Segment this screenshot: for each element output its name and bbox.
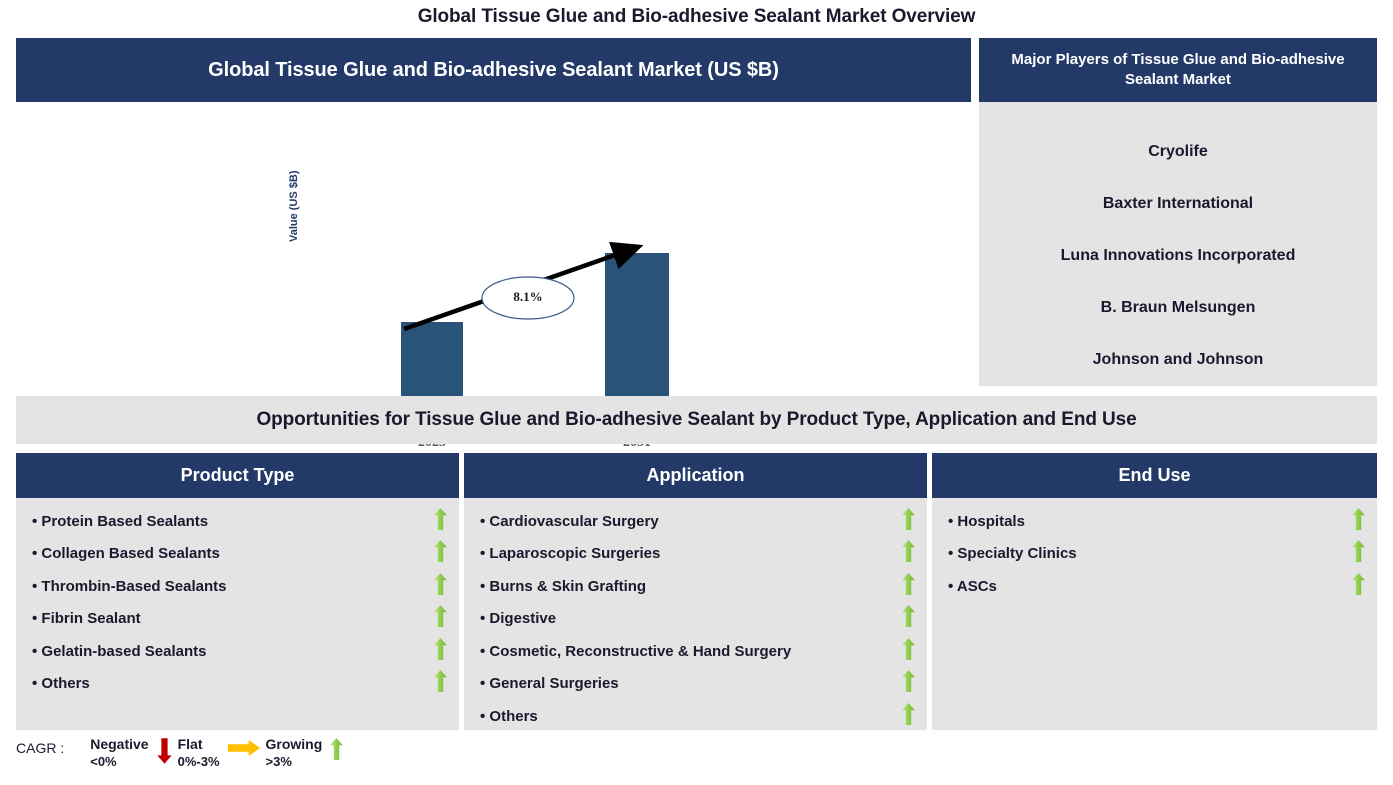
opportunity-label: • Hospitals: [948, 513, 1025, 530]
column-header: Product Type: [16, 453, 459, 498]
major-players-panel: Major Players of Tissue Glue and Bio-adh…: [979, 38, 1377, 386]
opportunity-row: • Laparoscopic Surgeries: [464, 538, 927, 571]
trend-arrow: [434, 638, 447, 665]
arrow-up-green-icon: [1352, 508, 1365, 530]
major-players-header: Major Players of Tissue Glue and Bio-adh…: [979, 38, 1377, 102]
opportunity-label: • Digestive: [480, 610, 556, 627]
major-player-item: B. Braun Melsungen: [979, 282, 1377, 334]
trend-arrow: [434, 605, 447, 632]
cagr-legend-icon: [330, 736, 343, 765]
cagr-legend-text: Growing>3%: [266, 736, 323, 770]
arrow-up-green-icon: [902, 670, 915, 692]
opportunities-banner: Opportunities for Tissue Glue and Bio-ad…: [16, 396, 1377, 444]
arrow-up-green-icon: [902, 573, 915, 595]
opportunity-row: • ASCs: [932, 570, 1377, 603]
opportunity-column-product-type: Product Type • Protein Based Sealants• C…: [16, 453, 459, 730]
opportunity-label: • Burns & Skin Grafting: [480, 578, 646, 595]
trend-arrow: [434, 508, 447, 535]
chart-panel-header: Global Tissue Glue and Bio-adhesive Seal…: [16, 38, 971, 102]
major-player-item: Baxter International: [979, 178, 1377, 230]
trend-arrow: [1352, 540, 1365, 567]
opportunity-row: • Digestive: [464, 603, 927, 636]
cagr-legend-entry: Flat0%-3%: [178, 736, 260, 770]
opportunity-row: • Protein Based Sealants: [16, 505, 459, 538]
cagr-legend: CAGR : Negative<0%Flat0%-3%Growing>3%: [16, 736, 436, 780]
trend-arrow: [434, 670, 447, 697]
arrow-up-green-icon: [902, 540, 915, 562]
opportunity-label: • Collagen Based Sealants: [32, 545, 220, 562]
trend-arrow: [902, 670, 915, 697]
cagr-legend-title: Flat: [178, 736, 220, 754]
arrow-up-green-icon: [434, 605, 447, 627]
chart-y-axis-label: Value (US $B): [288, 122, 300, 242]
arrow-up-green-icon: [434, 540, 447, 562]
cagr-legend-range: >3%: [266, 754, 323, 770]
market-chart-panel: Global Tissue Glue and Bio-adhesive Seal…: [16, 38, 971, 386]
arrow-up-green-icon: [330, 738, 343, 760]
opportunity-column-end-use: End Use • Hospitals• Specialty Clinics• …: [932, 453, 1377, 730]
opportunity-label: • Protein Based Sealants: [32, 513, 208, 530]
opportunity-label: • Others: [480, 708, 538, 725]
opportunity-row: • Others: [16, 668, 459, 701]
infographic-page: Global Tissue Glue and Bio-adhesive Seal…: [0, 0, 1393, 785]
opportunity-row: • Burns & Skin Grafting: [464, 570, 927, 603]
opportunity-label: • Fibrin Sealant: [32, 610, 141, 627]
opportunity-label: • Cosmetic, Reconstructive & Hand Surger…: [480, 643, 791, 660]
trend-arrow: [902, 508, 915, 535]
arrow-up-green-icon: [434, 670, 447, 692]
cagr-legend-icon: [157, 736, 172, 769]
opportunity-label: • Specialty Clinics: [948, 545, 1077, 562]
arrow-up-green-icon: [434, 573, 447, 595]
cagr-legend-entries: Negative<0%Flat0%-3%Growing>3%: [90, 736, 349, 770]
arrow-up-green-icon: [902, 605, 915, 627]
opportunity-row: • Thrombin-Based Sealants: [16, 570, 459, 603]
cagr-legend-text: Flat0%-3%: [178, 736, 220, 770]
opportunity-row: • Others: [464, 700, 927, 733]
trend-arrow: [434, 573, 447, 600]
opportunity-label: • ASCs: [948, 578, 997, 595]
arrow-up-green-icon: [902, 703, 915, 725]
major-players-list: CryolifeBaxter InternationalLuna Innovat…: [979, 102, 1377, 386]
arrow-up-green-icon: [1352, 540, 1365, 562]
cagr-legend-entry: Growing>3%: [266, 736, 344, 770]
opportunity-list: • Hospitals• Specialty Clinics• ASCs: [932, 498, 1377, 603]
arrow-up-green-icon: [434, 508, 447, 530]
trend-arrow: [1352, 508, 1365, 535]
trend-arrow: [1352, 573, 1365, 600]
cagr-legend-entry: Negative<0%: [90, 736, 171, 770]
opportunity-row: • General Surgeries: [464, 668, 927, 701]
arrow-down-red-icon: [157, 738, 172, 764]
opportunity-row: • Cardiovascular Surgery: [464, 505, 927, 538]
trend-arrow: [902, 703, 915, 730]
major-player-item: Luna Innovations Incorporated: [979, 230, 1377, 282]
opportunity-list: • Protein Based Sealants• Collagen Based…: [16, 498, 459, 700]
opportunity-label: • Gelatin-based Sealants: [32, 643, 206, 660]
cagr-legend-icon: [228, 736, 260, 763]
major-player-item: Cryolife: [979, 126, 1377, 178]
cagr-legend-title: Growing: [266, 736, 323, 754]
cagr-legend-text: Negative<0%: [90, 736, 148, 770]
opportunity-row: • Specialty Clinics: [932, 538, 1377, 571]
trend-arrow: [902, 638, 915, 665]
trend-arrow: [902, 605, 915, 632]
column-header: Application: [464, 453, 927, 498]
opportunity-row: • Gelatin-based Sealants: [16, 635, 459, 668]
arrow-up-green-icon: [902, 638, 915, 660]
cagr-legend-range: 0%-3%: [178, 754, 220, 770]
arrow-right-yellow-icon: [228, 738, 260, 758]
opportunity-row: • Fibrin Sealant: [16, 603, 459, 636]
opportunity-row: • Cosmetic, Reconstructive & Hand Surger…: [464, 635, 927, 668]
opportunity-list: • Cardiovascular Surgery• Laparoscopic S…: [464, 498, 927, 733]
opportunity-label: • Cardiovascular Surgery: [480, 513, 659, 530]
column-header: End Use: [932, 453, 1377, 498]
chart-plot-area: Value (US $B) 2025 2031 8.1%: [16, 102, 971, 386]
trend-arrow: [902, 573, 915, 600]
arrow-up-green-icon: [902, 508, 915, 530]
cagr-legend-label: CAGR :: [16, 736, 64, 756]
opportunity-label: • Others: [32, 675, 90, 692]
opportunity-label: • Laparoscopic Surgeries: [480, 545, 660, 562]
trend-arrow: [434, 540, 447, 567]
arrow-up-green-icon: [1352, 573, 1365, 595]
opportunity-row: • Collagen Based Sealants: [16, 538, 459, 571]
cagr-legend-range: <0%: [90, 754, 148, 770]
arrow-up-green-icon: [434, 638, 447, 660]
opportunity-column-application: Application • Cardiovascular Surgery• La…: [464, 453, 927, 730]
cagr-legend-title: Negative: [90, 736, 148, 754]
opportunity-label: • Thrombin-Based Sealants: [32, 578, 226, 595]
opportunity-row: • Hospitals: [932, 505, 1377, 538]
page-title: Global Tissue Glue and Bio-adhesive Seal…: [0, 6, 1393, 28]
cagr-value-label: 8.1%: [484, 289, 572, 305]
trend-arrow: [902, 540, 915, 567]
opportunity-label: • General Surgeries: [480, 675, 619, 692]
major-player-item: Johnson and Johnson: [979, 334, 1377, 386]
